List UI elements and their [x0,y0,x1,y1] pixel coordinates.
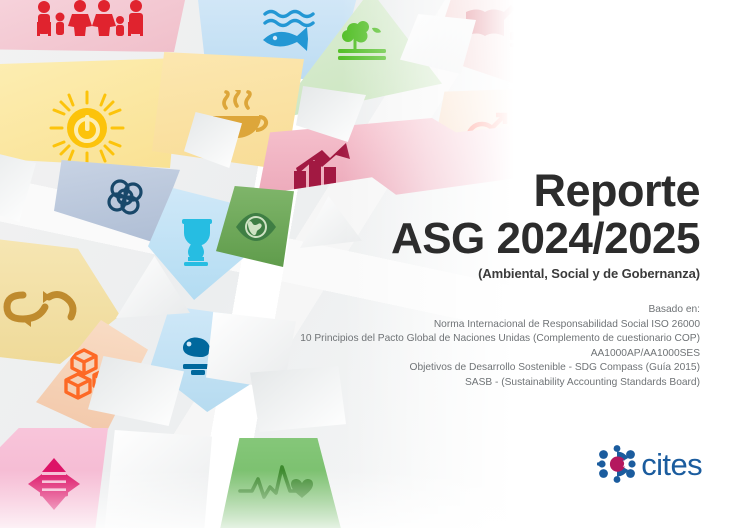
family-icon [28,0,148,38]
cites-wordmark: cites [641,449,702,480]
cites-logo-mark [597,444,637,484]
page-title-line-2: ASG 2024/2025 [340,216,700,262]
basis-line-5: SASB - (Sustainability Accounting Standa… [300,376,700,391]
basis-line-3: AA1000AP/AA1000SES [300,347,700,362]
basis-line-2: 10 Principios del Pacto Global de Nacion… [300,332,700,347]
eye-globe-icon [234,209,278,245]
fish-waves-icon [259,6,325,54]
cover-title-block: Reporte ASG 2024/2025 (Ambiental, Social… [340,168,700,281]
cites-logo: cites [597,444,702,484]
tile-family [0,0,188,52]
tile-energy-sun [0,58,180,168]
report-cover-page: Reporte ASG 2024/2025 (Ambiental, Social… [0,0,750,528]
water-glass-icon [174,217,218,267]
basis-line-1: Norma Internacional de Responsabilidad S… [300,318,700,333]
infinity-loop-icon [1,277,79,333]
circles-link-icon [104,177,148,221]
page-subtitle: (Ambiental, Social y de Gobernanza) [340,266,700,281]
cover-text-column: Reporte ASG 2024/2025 (Ambiental, Social… [330,0,750,528]
basis-line-4: Objetivos de Desarrollo Sostenible - SDG… [300,361,700,376]
sun-power-icon [49,90,125,166]
basis-intro: Basado en: [300,303,700,318]
page-title-line-1: Reporte [340,168,700,214]
basis-standards-list: Basado en: Norma Internacional de Respon… [300,303,700,391]
